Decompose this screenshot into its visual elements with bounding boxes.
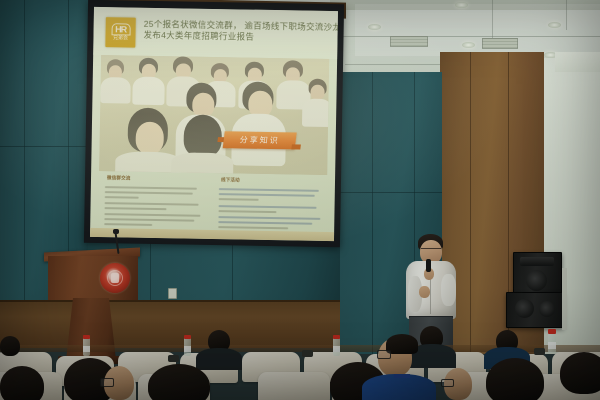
ceiling-vent	[482, 38, 518, 49]
hr-badge-sub: 兄弟会	[113, 36, 128, 42]
loudspeaker-upper	[513, 252, 562, 296]
wall-outlet	[168, 288, 177, 299]
projection-screen: HR 兄弟会 25个报名状微信交流群， 逾百场线下职场交流沙龙， 发布4大类年度…	[90, 7, 338, 241]
audience-glasses	[441, 379, 454, 387]
lanyard	[394, 374, 410, 378]
speaker-stand	[562, 268, 567, 330]
presenter-arm-left	[441, 274, 456, 306]
downlight-icon	[548, 22, 561, 28]
downlight-icon	[455, 2, 468, 8]
hr-logo-badge: HR 兄弟会	[105, 17, 136, 48]
back-wall-light	[555, 52, 600, 72]
audience-glasses	[100, 378, 114, 387]
audience-head-foreground	[486, 358, 544, 400]
audience-head-foreground	[560, 352, 600, 394]
slide-title: 25个报名状微信交流群， 逾百场线下职场交流沙龙， 发布4大类年度招聘行业报告	[143, 19, 333, 45]
audience-glasses	[377, 350, 391, 359]
presentation-slide: HR 兄弟会 25个报名状微信交流群， 逾百场线下职场交流沙龙， 发布4大类年度…	[90, 7, 338, 241]
slide-column-left-heading: 微信群交流	[107, 175, 131, 181]
handheld-microphone	[426, 259, 431, 272]
university-seal-emblem	[100, 263, 130, 293]
seat-knob	[168, 355, 179, 362]
photo-overlay	[99, 55, 329, 175]
lectern-microphone-head	[113, 229, 119, 234]
downlight-icon	[462, 42, 475, 48]
audience-shoulders	[196, 348, 242, 370]
loudspeaker-lower	[506, 292, 564, 328]
wall-wainscot	[0, 300, 340, 348]
lectern-front	[48, 256, 138, 300]
audience-head-foreground	[148, 364, 210, 400]
seat	[258, 372, 330, 400]
seat-knob	[302, 350, 313, 357]
projection-screen-frame: HR 兄弟会 25个报名状微信交流群， 逾百场线下职场交流沙龙， 发布4大类年度…	[84, 0, 344, 247]
slide-body: 微信群交流 线下活动	[90, 173, 335, 233]
slide-photo: 分享知识	[99, 55, 329, 175]
slide-column-right-heading: 线下活动	[221, 177, 240, 183]
slide-ribbon-banner: 分享知识	[223, 131, 297, 149]
audience-head	[0, 336, 20, 356]
seat-knob	[534, 348, 545, 355]
audience-head-foreground	[0, 366, 44, 400]
presenter-glasses	[421, 248, 441, 252]
photograph-scene: HR 兄弟会 25个报名状微信交流群， 逾百场线下职场交流沙龙， 发布4大类年度…	[0, 0, 600, 400]
ceiling-vent	[390, 36, 428, 47]
downlight-icon	[368, 24, 381, 30]
presenter-hand-lower	[419, 286, 430, 298]
hr-badge-mark: HR	[111, 23, 130, 35]
